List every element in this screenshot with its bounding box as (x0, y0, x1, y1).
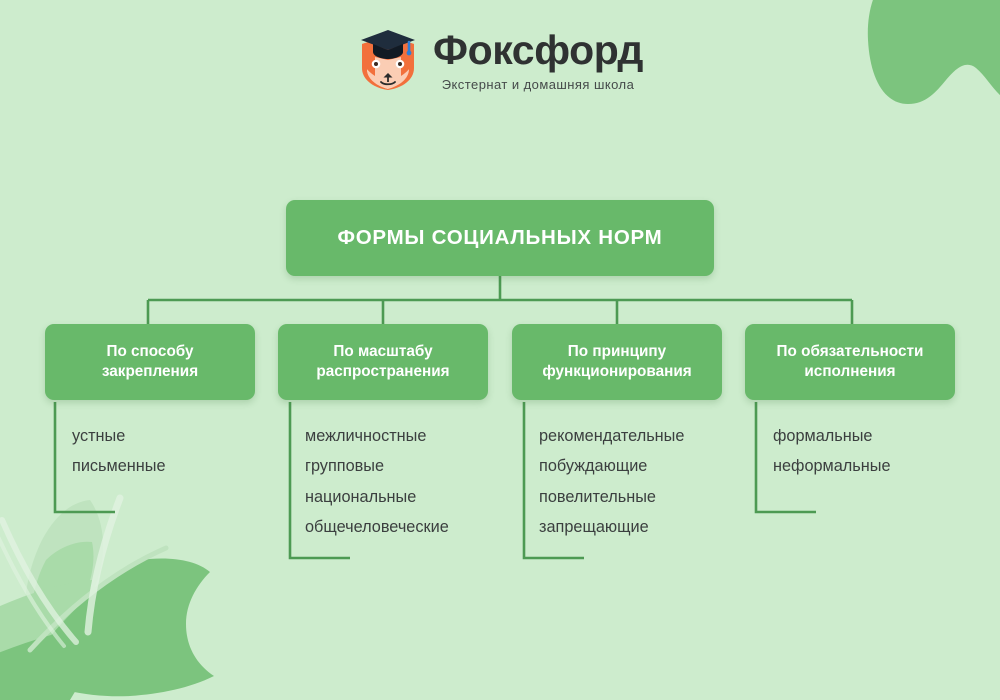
category-label-3: По принципу функционирования (534, 342, 699, 383)
infographic-canvas: Фоксфорд Экстернат и домашняя школа ФОРМ… (0, 0, 1000, 700)
category-label-line: По принципу (568, 343, 666, 360)
category-label-4: По обязательности исполнения (769, 342, 932, 383)
list-item: общечеловеческие (305, 519, 449, 535)
category-label-line: По масштабу (333, 343, 432, 360)
item-list-1: устные письменные (72, 428, 166, 475)
category-box-2: По масштабу распространения (278, 324, 488, 400)
category-label-line: распространения (316, 363, 449, 380)
list-item: побуждающие (539, 458, 684, 474)
category-label-1: По способу закрепления (94, 342, 206, 383)
list-item: письменные (72, 458, 166, 474)
list-item: межличностные (305, 428, 449, 444)
item-list-4: формальные неформальные (773, 428, 891, 475)
category-label-2: По масштабу распространения (308, 342, 457, 383)
category-label-line: закрепления (102, 363, 198, 380)
category-label-line: исполнения (804, 363, 895, 380)
item-list-3: рекомендательные побуждающие повелительн… (539, 428, 684, 535)
item-list-2: межличностные групповые национальные общ… (305, 428, 449, 535)
category-box-3: По принципу функционирования (512, 324, 722, 400)
category-label-line: По способу (106, 343, 193, 360)
category-box-1: По способу закрепления (45, 324, 255, 400)
list-item: рекомендательные (539, 428, 684, 444)
list-item: устные (72, 428, 166, 444)
diagram-title: ФОРМЫ СОЦИАЛЬНЫХ НОРМ (337, 226, 662, 250)
category-box-4: По обязательности исполнения (745, 324, 955, 400)
diagram-title-box: ФОРМЫ СОЦИАЛЬНЫХ НОРМ (286, 200, 714, 276)
list-item: повелительные (539, 489, 684, 505)
category-label-line: функционирования (542, 363, 691, 380)
list-item: неформальные (773, 458, 891, 474)
list-item: групповые (305, 458, 449, 474)
list-item: формальные (773, 428, 891, 444)
category-label-line: По обязательности (777, 343, 924, 360)
list-item: запрещающие (539, 519, 684, 535)
list-item: национальные (305, 489, 449, 505)
